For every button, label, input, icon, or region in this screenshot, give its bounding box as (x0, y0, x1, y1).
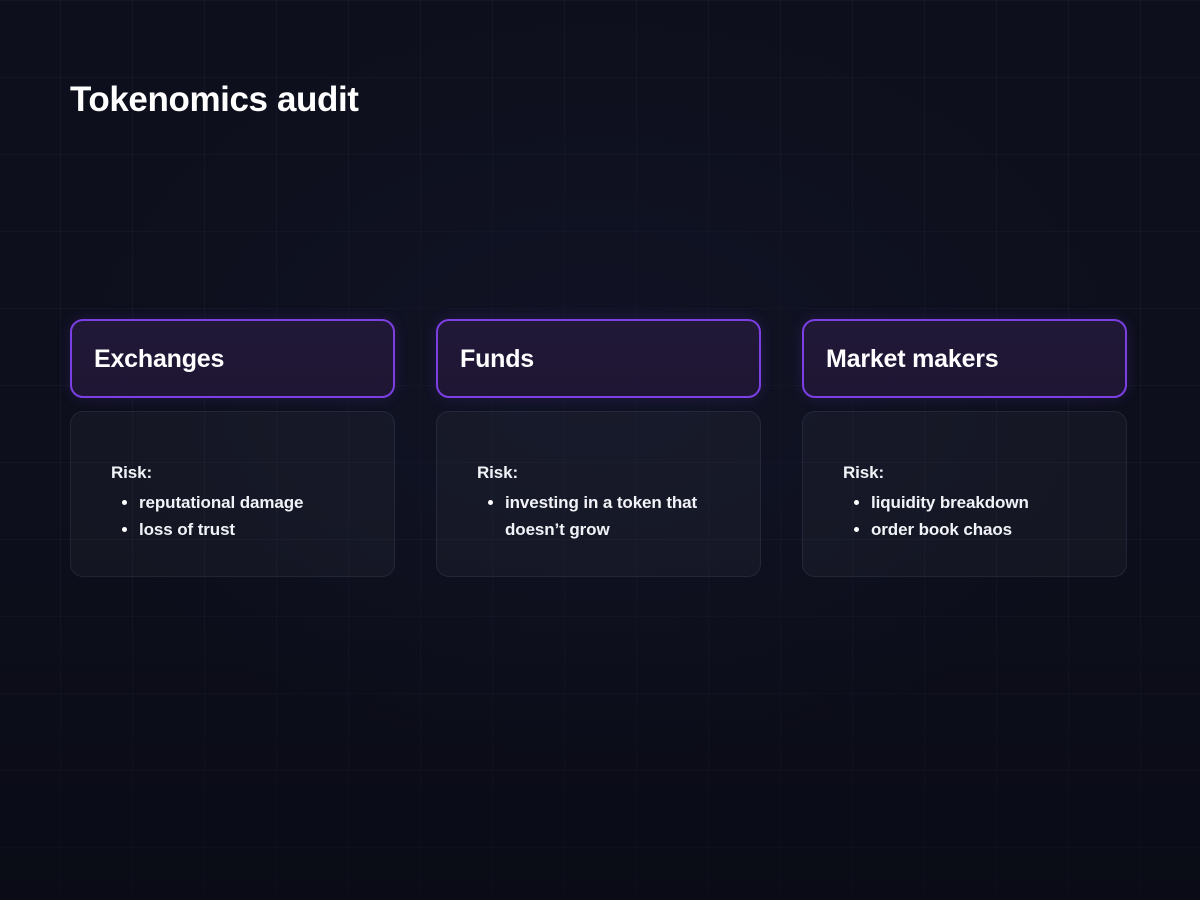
risk-list: investing in a token that doesn’t grow (477, 489, 738, 543)
list-item-label: reputational damage (139, 493, 303, 512)
bullet-icon (122, 500, 127, 505)
list-item: liquidity breakdown (843, 489, 1104, 516)
page-title: Tokenomics audit (70, 78, 359, 122)
risk-label: Risk: (843, 462, 1104, 484)
list-item-label: investing in a token that doesn’t grow (505, 493, 697, 539)
risk-column-exchanges: Exchanges Risk: reputational damage loss… (70, 319, 395, 577)
card-header-title: Funds (460, 344, 534, 374)
risk-label: Risk: (111, 462, 372, 484)
card-body-funds: Risk: investing in a token that doesn’t … (436, 411, 761, 577)
card-body-exchanges: Risk: reputational damage loss of trust (70, 411, 395, 577)
bullet-icon (854, 527, 859, 532)
risk-columns: Exchanges Risk: reputational damage loss… (70, 319, 1130, 577)
card-body-market-makers: Risk: liquidity breakdown order book cha… (802, 411, 1127, 577)
list-item-label: loss of trust (139, 520, 235, 539)
list-item-label: order book chaos (871, 520, 1012, 539)
list-item: investing in a token that doesn’t grow (477, 489, 738, 543)
list-item-label: liquidity breakdown (871, 493, 1029, 512)
card-header-title: Market makers (826, 344, 999, 374)
risk-list: reputational damage loss of trust (111, 489, 372, 543)
list-item: reputational damage (111, 489, 372, 516)
card-header-title: Exchanges (94, 344, 224, 374)
bullet-icon (854, 500, 859, 505)
risk-column-funds: Funds Risk: investing in a token that do… (436, 319, 761, 577)
risk-column-market-makers: Market makers Risk: liquidity breakdown … (802, 319, 1127, 577)
card-header-market-makers[interactable]: Market makers (802, 319, 1127, 398)
card-header-exchanges[interactable]: Exchanges (70, 319, 395, 398)
risk-list: liquidity breakdown order book chaos (843, 489, 1104, 543)
card-header-funds[interactable]: Funds (436, 319, 761, 398)
list-item: loss of trust (111, 516, 372, 543)
risk-label: Risk: (477, 462, 738, 484)
list-item: order book chaos (843, 516, 1104, 543)
bullet-icon (122, 527, 127, 532)
bullet-icon (488, 500, 493, 505)
